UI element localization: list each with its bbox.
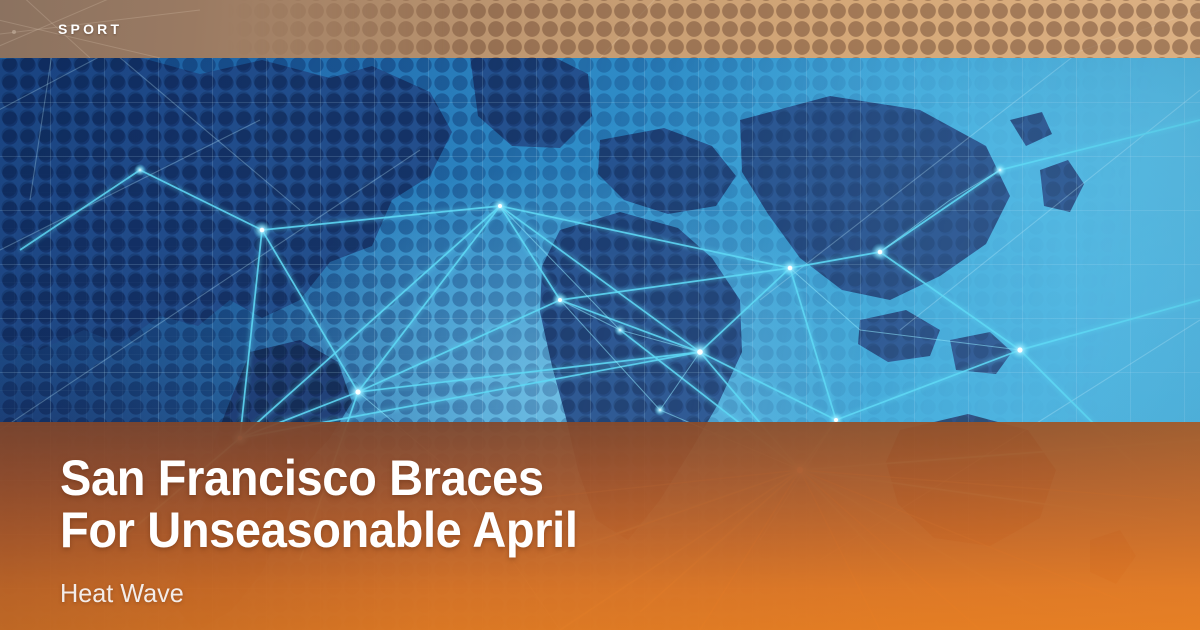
news-hero-card: SPORT San Francisco Braces For Unseasona…: [0, 0, 1200, 630]
page-title: San Francisco Braces For Unseasonable Ap…: [60, 452, 1000, 556]
headline-block: San Francisco Braces For Unseasonable Ap…: [60, 452, 1060, 608]
subtitle: Heat Wave: [60, 578, 1030, 608]
category-bar: SPORT: [0, 0, 1200, 58]
category-bar-dot-texture: [0, 0, 1200, 58]
category-label[interactable]: SPORT: [58, 0, 122, 58]
